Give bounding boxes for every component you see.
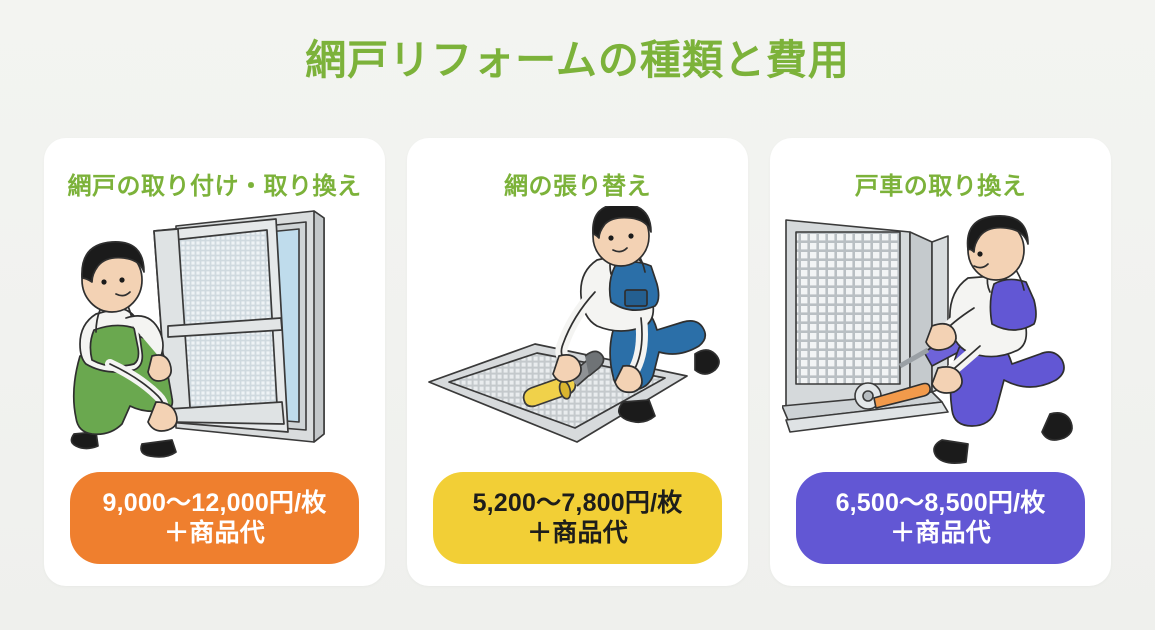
worker-replacing-roller-wheel-illustration [782,206,1099,464]
price-range: 9,000〜12,000円/枚 [103,488,327,519]
card-title: 網の張り替え [407,166,748,201]
card-list: 網戸の取り付け・取り換え [44,138,1111,586]
card-title: 戸車の取り換え [770,166,1111,201]
card-roller-replace[interactable]: 戸車の取り換え [770,138,1111,586]
infographic-page: 網戸リフォームの種類と費用 網戸の取り付け・取り換え [0,0,1155,630]
worker-installing-screen-door-illustration [56,206,373,464]
card-mesh-rescreen[interactable]: 網の張り替え [407,138,748,586]
price-badge: 9,000〜12,000円/枚 ＋商品代 [70,472,359,564]
price-note: ＋商品代 [164,518,265,549]
price-badge: 6,500〜8,500円/枚 ＋商品代 [796,472,1085,564]
price-range: 5,200〜7,800円/枚 [473,488,683,519]
card-install-replace[interactable]: 網戸の取り付け・取り換え [44,138,385,586]
card-title: 網戸の取り付け・取り換え [44,166,385,201]
worker-rolling-new-mesh-illustration [419,206,736,464]
price-badge: 5,200〜7,800円/枚 ＋商品代 [433,472,722,564]
price-range: 6,500〜8,500円/枚 [836,488,1046,519]
price-note: ＋商品代 [527,518,628,549]
price-note: ＋商品代 [890,518,991,549]
page-title: 網戸リフォームの種類と費用 [0,36,1155,85]
